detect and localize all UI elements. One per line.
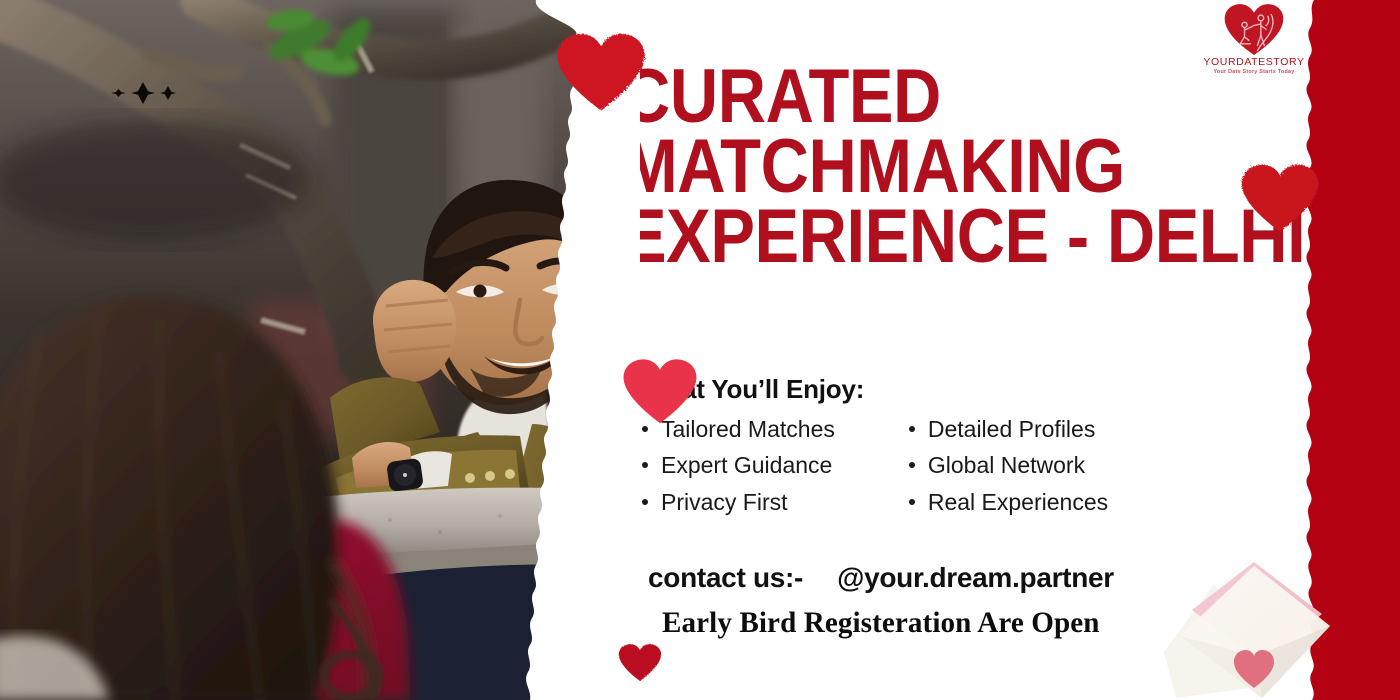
list-item: Global Network: [909, 447, 1108, 483]
heart-icon: [618, 643, 662, 683]
benefit-label: Expert Guidance: [661, 447, 832, 483]
benefits-column-left: Tailored Matches Expert Guidance Privacy…: [642, 411, 835, 520]
headline-line-1: CURATED: [622, 62, 1238, 132]
headline-line-2: MATCHMAKING: [622, 132, 1238, 202]
heart-icon: [1240, 163, 1320, 235]
benefit-label: Detailed Profiles: [928, 411, 1095, 447]
list-item: Expert Guidance: [642, 447, 835, 483]
heart-proposal-logo-icon: [1223, 2, 1285, 58]
date-photo: [0, 0, 600, 700]
headline-line-3: EXPERIENCE - DELHI: [622, 202, 1238, 272]
heart-icon: [622, 357, 698, 427]
poster-canvas: YOURDATESTORY Your Date Story Starts Tod…: [0, 0, 1400, 700]
bullet-dot-icon: [909, 426, 915, 432]
brand-tagline: Your Date Story Starts Today: [1200, 69, 1308, 75]
heart-icon: [555, 32, 647, 114]
benefits-columns: Tailored Matches Expert Guidance Privacy…: [642, 411, 1242, 520]
sparkle-stars-icon: [100, 70, 210, 116]
date-photo-illustration: [0, 0, 600, 700]
bullet-dot-icon: [642, 462, 648, 468]
benefits-column-right: Detailed Profiles Global Network Real Ex…: [909, 411, 1108, 520]
list-item: Detailed Profiles: [909, 411, 1108, 447]
brand-name: YOURDATESTORY: [1200, 56, 1308, 68]
benefits-section: What You’ll Enjoy: Tailored Matches Expe…: [642, 374, 1242, 520]
instagram-handle[interactable]: @your.dream.partner: [837, 562, 1114, 594]
benefit-label: Privacy First: [661, 484, 788, 520]
bullet-dot-icon: [909, 462, 915, 468]
contact-label: contact us:-: [648, 562, 803, 594]
page-title: CURATED MATCHMAKING EXPERIENCE - DELHI: [622, 62, 1238, 272]
benefits-heading: What You’ll Enjoy:: [642, 374, 1242, 405]
contact-row: contact us:- @your.dream.partner: [648, 562, 1114, 594]
benefit-label: Global Network: [928, 447, 1085, 483]
brand-logo[interactable]: YOURDATESTORY Your Date Story Starts Tod…: [1200, 2, 1308, 75]
bullet-dot-icon: [642, 499, 648, 505]
early-bird-notice: Early Bird Registeration Are Open: [662, 606, 1100, 640]
list-item: Real Experiences: [909, 484, 1108, 520]
list-item: Privacy First: [642, 484, 835, 520]
bullet-dot-icon: [909, 499, 915, 505]
love-letter-envelope-icon: [1158, 548, 1348, 700]
benefit-label: Real Experiences: [928, 484, 1108, 520]
